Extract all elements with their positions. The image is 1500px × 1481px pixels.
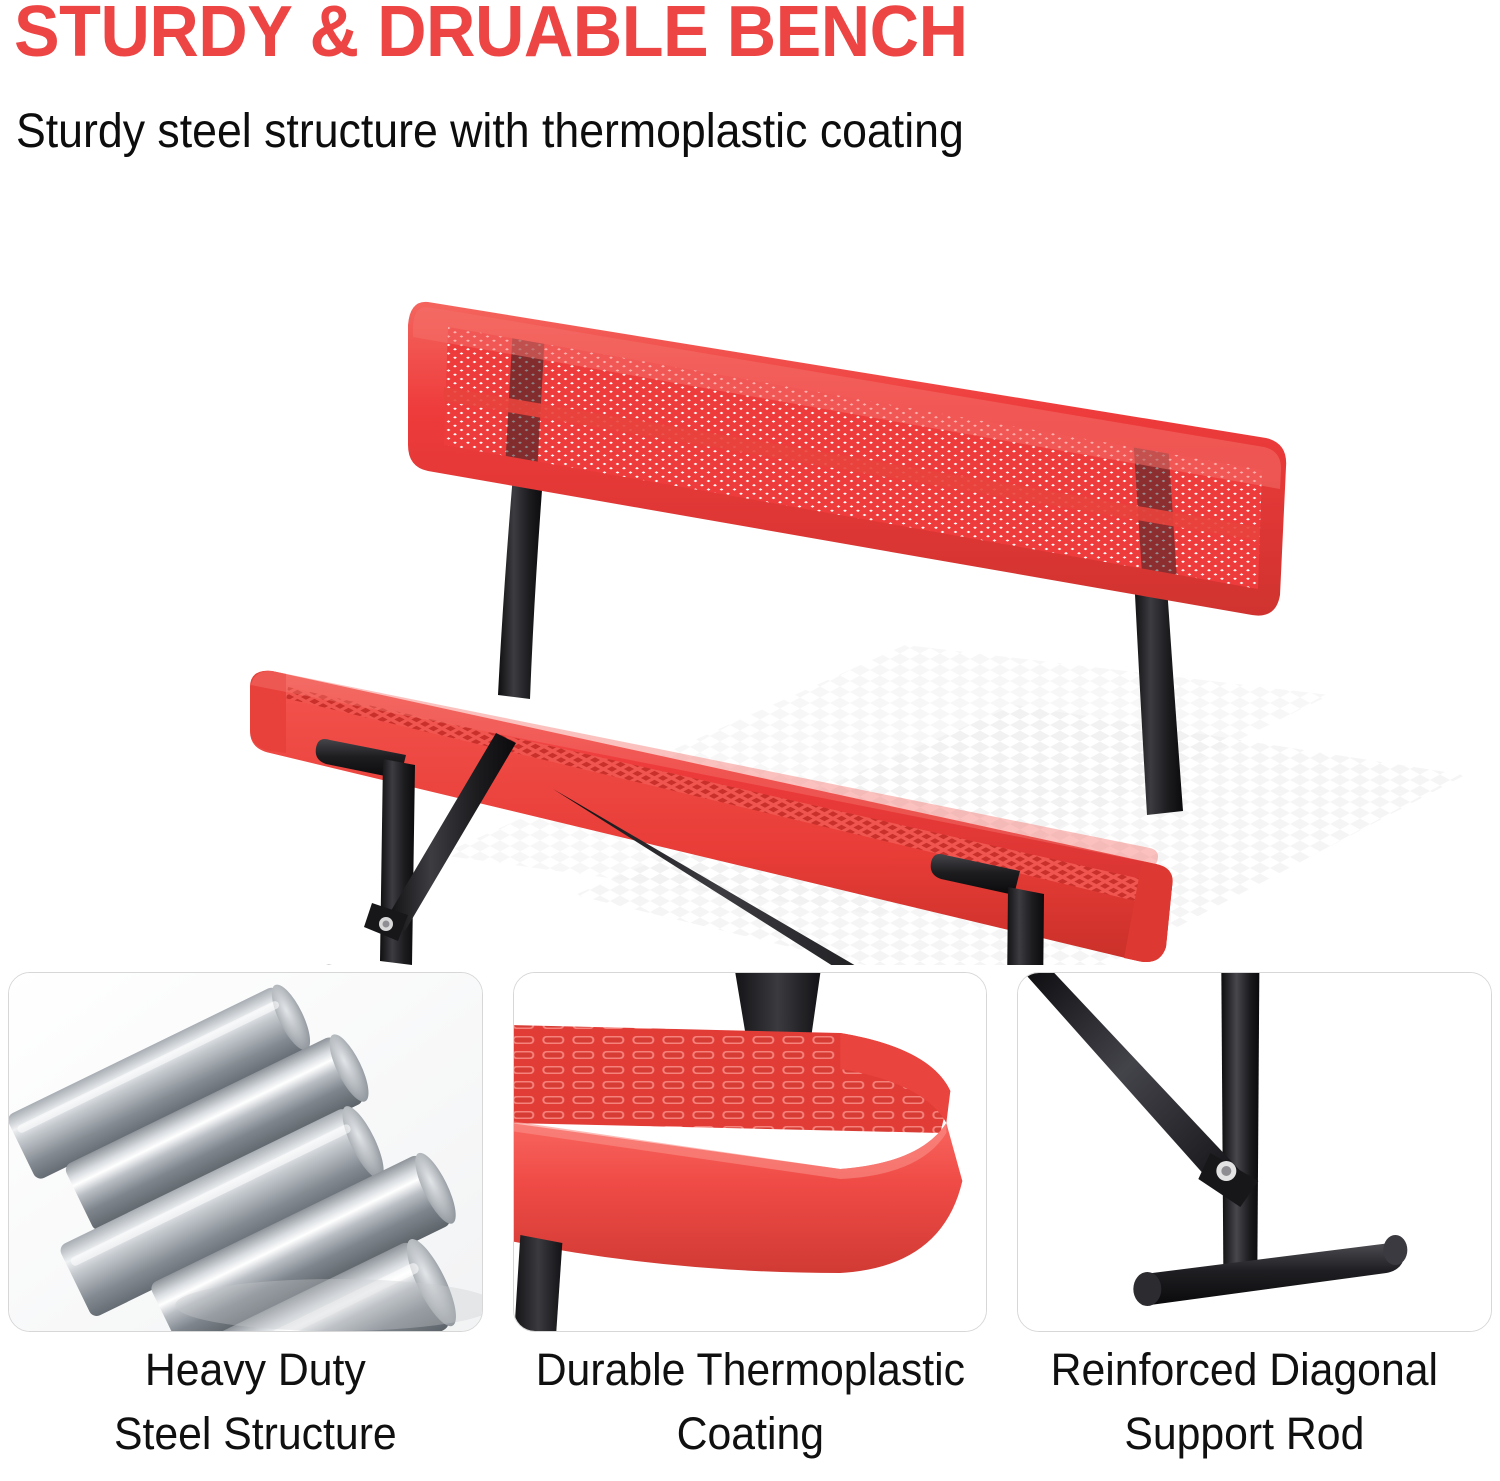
caption-row: Heavy Duty Steel Structure Durable Therm… bbox=[0, 1338, 1500, 1481]
feature-card-heavy-duty-steel[interactable] bbox=[8, 972, 483, 1332]
caption-line-1: Heavy Duty bbox=[26, 1338, 485, 1402]
header-block: STURDY & DRUABLE BENCH Sturdy steel stru… bbox=[0, 0, 1500, 180]
page-subtitle: Sturdy steel structure with thermoplasti… bbox=[16, 104, 964, 159]
feature-card-thermoplastic-coating[interactable] bbox=[513, 972, 988, 1332]
vertical-leg bbox=[1222, 973, 1260, 1269]
caption-line-2: Coating bbox=[521, 1402, 980, 1466]
caption-heavy-duty-steel: Heavy Duty Steel Structure bbox=[20, 1338, 490, 1481]
backrest-mesh-panel bbox=[400, 295, 1320, 625]
back-support-post-left bbox=[498, 475, 543, 699]
feature-card-diagonal-support-rod[interactable] bbox=[1017, 972, 1492, 1332]
hero-product-image bbox=[0, 175, 1500, 965]
page-title: STURDY & DRUABLE BENCH bbox=[14, 0, 968, 68]
caption-line-1: Durable Thermoplastic bbox=[521, 1338, 980, 1402]
caption-diagonal-support-rod: Reinforced Diagonal Support Rod bbox=[1010, 1338, 1480, 1481]
feature-card-row bbox=[0, 972, 1500, 1332]
leg-closeup bbox=[514, 1235, 562, 1331]
caption-thermoplastic-coating: Durable Thermoplastic Coating bbox=[515, 1338, 985, 1481]
caption-line-1: Reinforced Diagonal bbox=[1015, 1338, 1474, 1402]
caption-line-2: Steel Structure bbox=[26, 1402, 485, 1466]
leg-right bbox=[1006, 887, 1044, 965]
caption-line-2: Support Rod bbox=[1015, 1402, 1474, 1466]
